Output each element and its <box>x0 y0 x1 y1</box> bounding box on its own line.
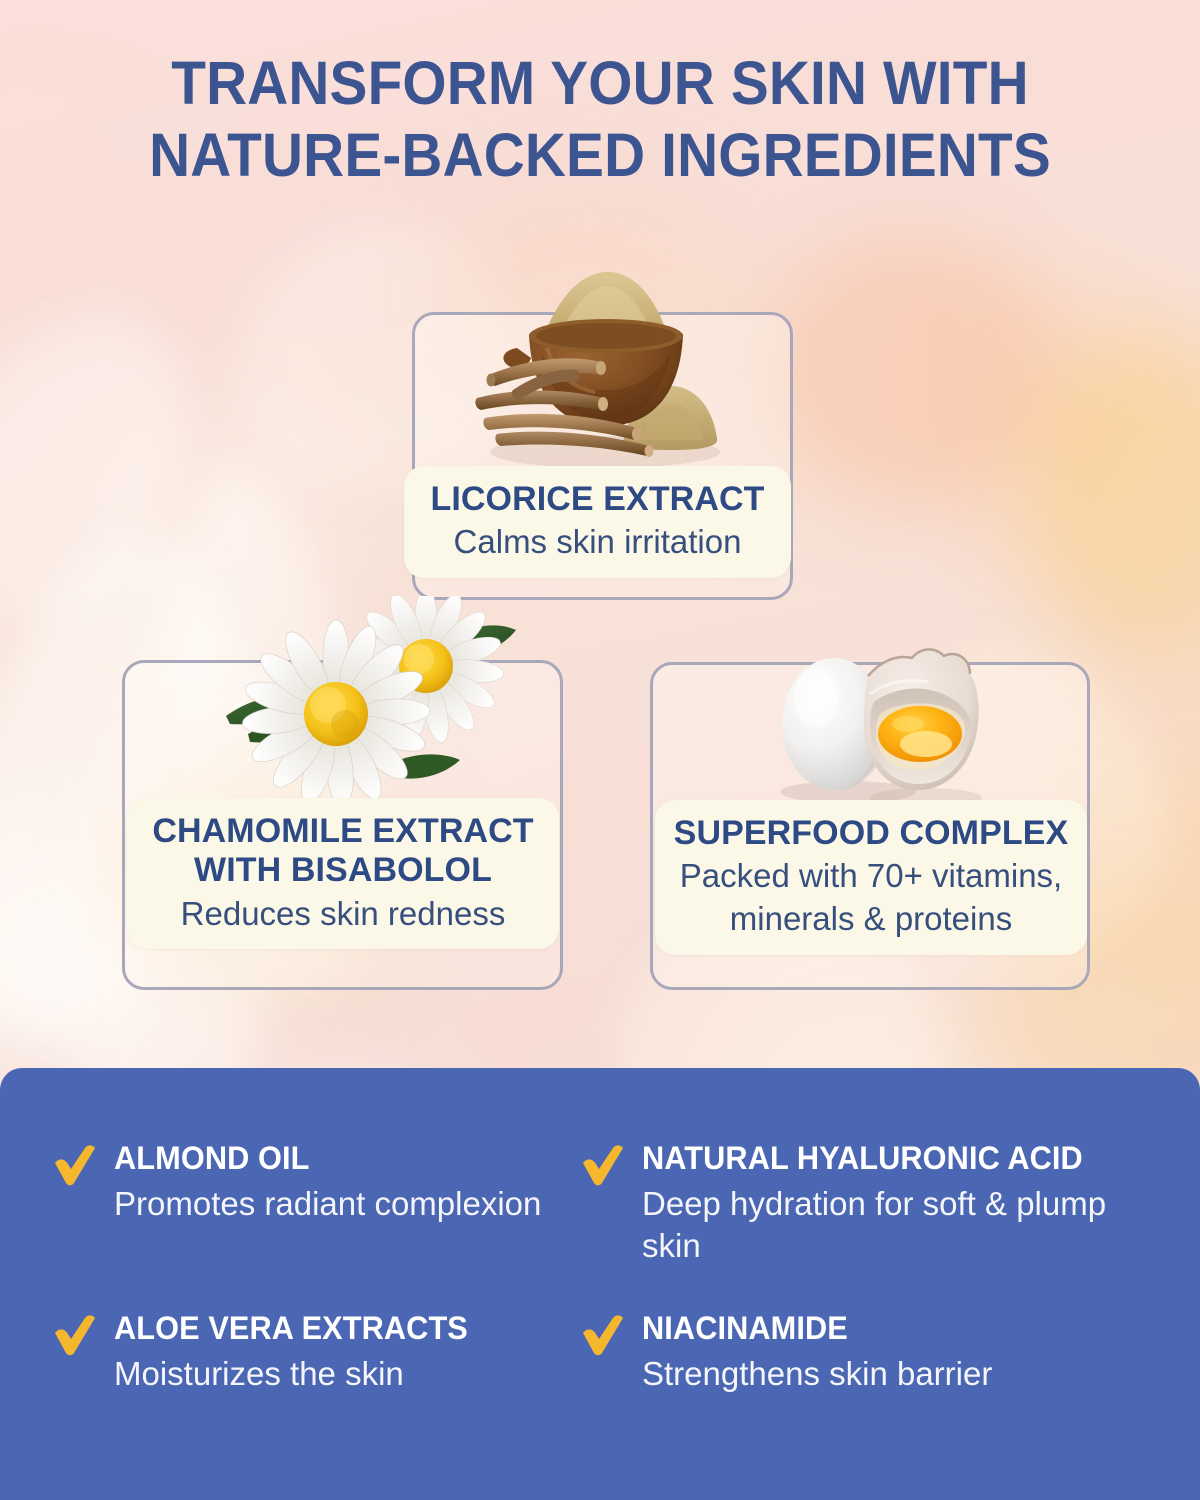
benefit-text-aloe-vera: ALOE VERA EXTRACTS Moisturizes the skin <box>114 1310 483 1395</box>
card-title-chamomile-line2: WITH BISABOLOL <box>137 851 549 890</box>
benefit-text-niacinamide: NIACINAMIDE Strengthens skin barrier <box>642 1310 992 1395</box>
card-label-superfood: SUPERFOOD COMPLEX Packed with 70+ vitami… <box>655 800 1087 955</box>
check-icon <box>52 1142 98 1188</box>
benefit-text-hyaluronic-acid: NATURAL HYALURONIC ACID Deep hydration f… <box>642 1140 1112 1268</box>
benefit-item-hyaluronic-acid: NATURAL HYALURONIC ACID Deep hydration f… <box>580 1140 1160 1268</box>
card-label-chamomile: CHAMOMILE EXTRACT WITH BISABOLOL Reduces… <box>127 798 559 949</box>
check-icon <box>580 1142 626 1188</box>
page-title: TRANSFORM YOUR SKIN WITH NATURE-BACKED I… <box>42 48 1158 192</box>
background-glow <box>760 230 1060 510</box>
card-title-superfood: SUPERFOOD COMPLEX <box>665 814 1077 853</box>
card-subtitle-superfood-line1: Packed with 70+ vitamins, <box>665 856 1077 896</box>
benefits-panel: ALMOND OIL Promotes radiant complexion N… <box>0 1068 1200 1500</box>
benefit-title-aloe-vera: ALOE VERA EXTRACTS <box>114 1311 468 1346</box>
card-title-licorice: LICORICE EXTRACT <box>414 480 781 519</box>
card-subtitle-superfood-line2: minerals & proteins <box>665 899 1077 939</box>
check-icon <box>52 1312 98 1358</box>
card-subtitle-licorice: Calms skin irritation <box>414 522 781 562</box>
benefit-item-aloe-vera: ALOE VERA EXTRACTS Moisturizes the skin <box>52 1310 580 1395</box>
benefit-item-niacinamide: NIACINAMIDE Strengthens skin barrier <box>580 1310 1160 1395</box>
benefit-text-almond-oil: ALMOND OIL Promotes radiant complexion <box>114 1140 541 1225</box>
headline-line-1: TRANSFORM YOUR SKIN WITH <box>42 48 1158 120</box>
card-subtitle-chamomile: Reduces skin redness <box>137 894 549 934</box>
card-title-chamomile-line1: CHAMOMILE EXTRACT <box>137 812 549 851</box>
benefit-title-niacinamide: NIACINAMIDE <box>642 1311 978 1346</box>
card-label-licorice: LICORICE EXTRACT Calms skin irritation <box>404 466 791 578</box>
benefit-desc-niacinamide: Strengthens skin barrier <box>642 1353 992 1395</box>
benefit-desc-hyaluronic-acid: Deep hydration for soft & plump skin <box>642 1183 1112 1267</box>
benefit-desc-almond-oil: Promotes radiant complexion <box>114 1183 541 1225</box>
check-icon <box>580 1312 626 1358</box>
benefit-title-hyaluronic-acid: NATURAL HYALURONIC ACID <box>642 1141 1093 1176</box>
benefit-desc-aloe-vera: Moisturizes the skin <box>114 1353 483 1395</box>
benefit-item-almond-oil: ALMOND OIL Promotes radiant complexion <box>52 1140 580 1268</box>
benefit-title-almond-oil: ALMOND OIL <box>114 1141 524 1176</box>
headline-line-2: NATURE-BACKED INGREDIENTS <box>42 120 1158 192</box>
benefits-grid: ALMOND OIL Promotes radiant complexion N… <box>52 1140 1160 1395</box>
